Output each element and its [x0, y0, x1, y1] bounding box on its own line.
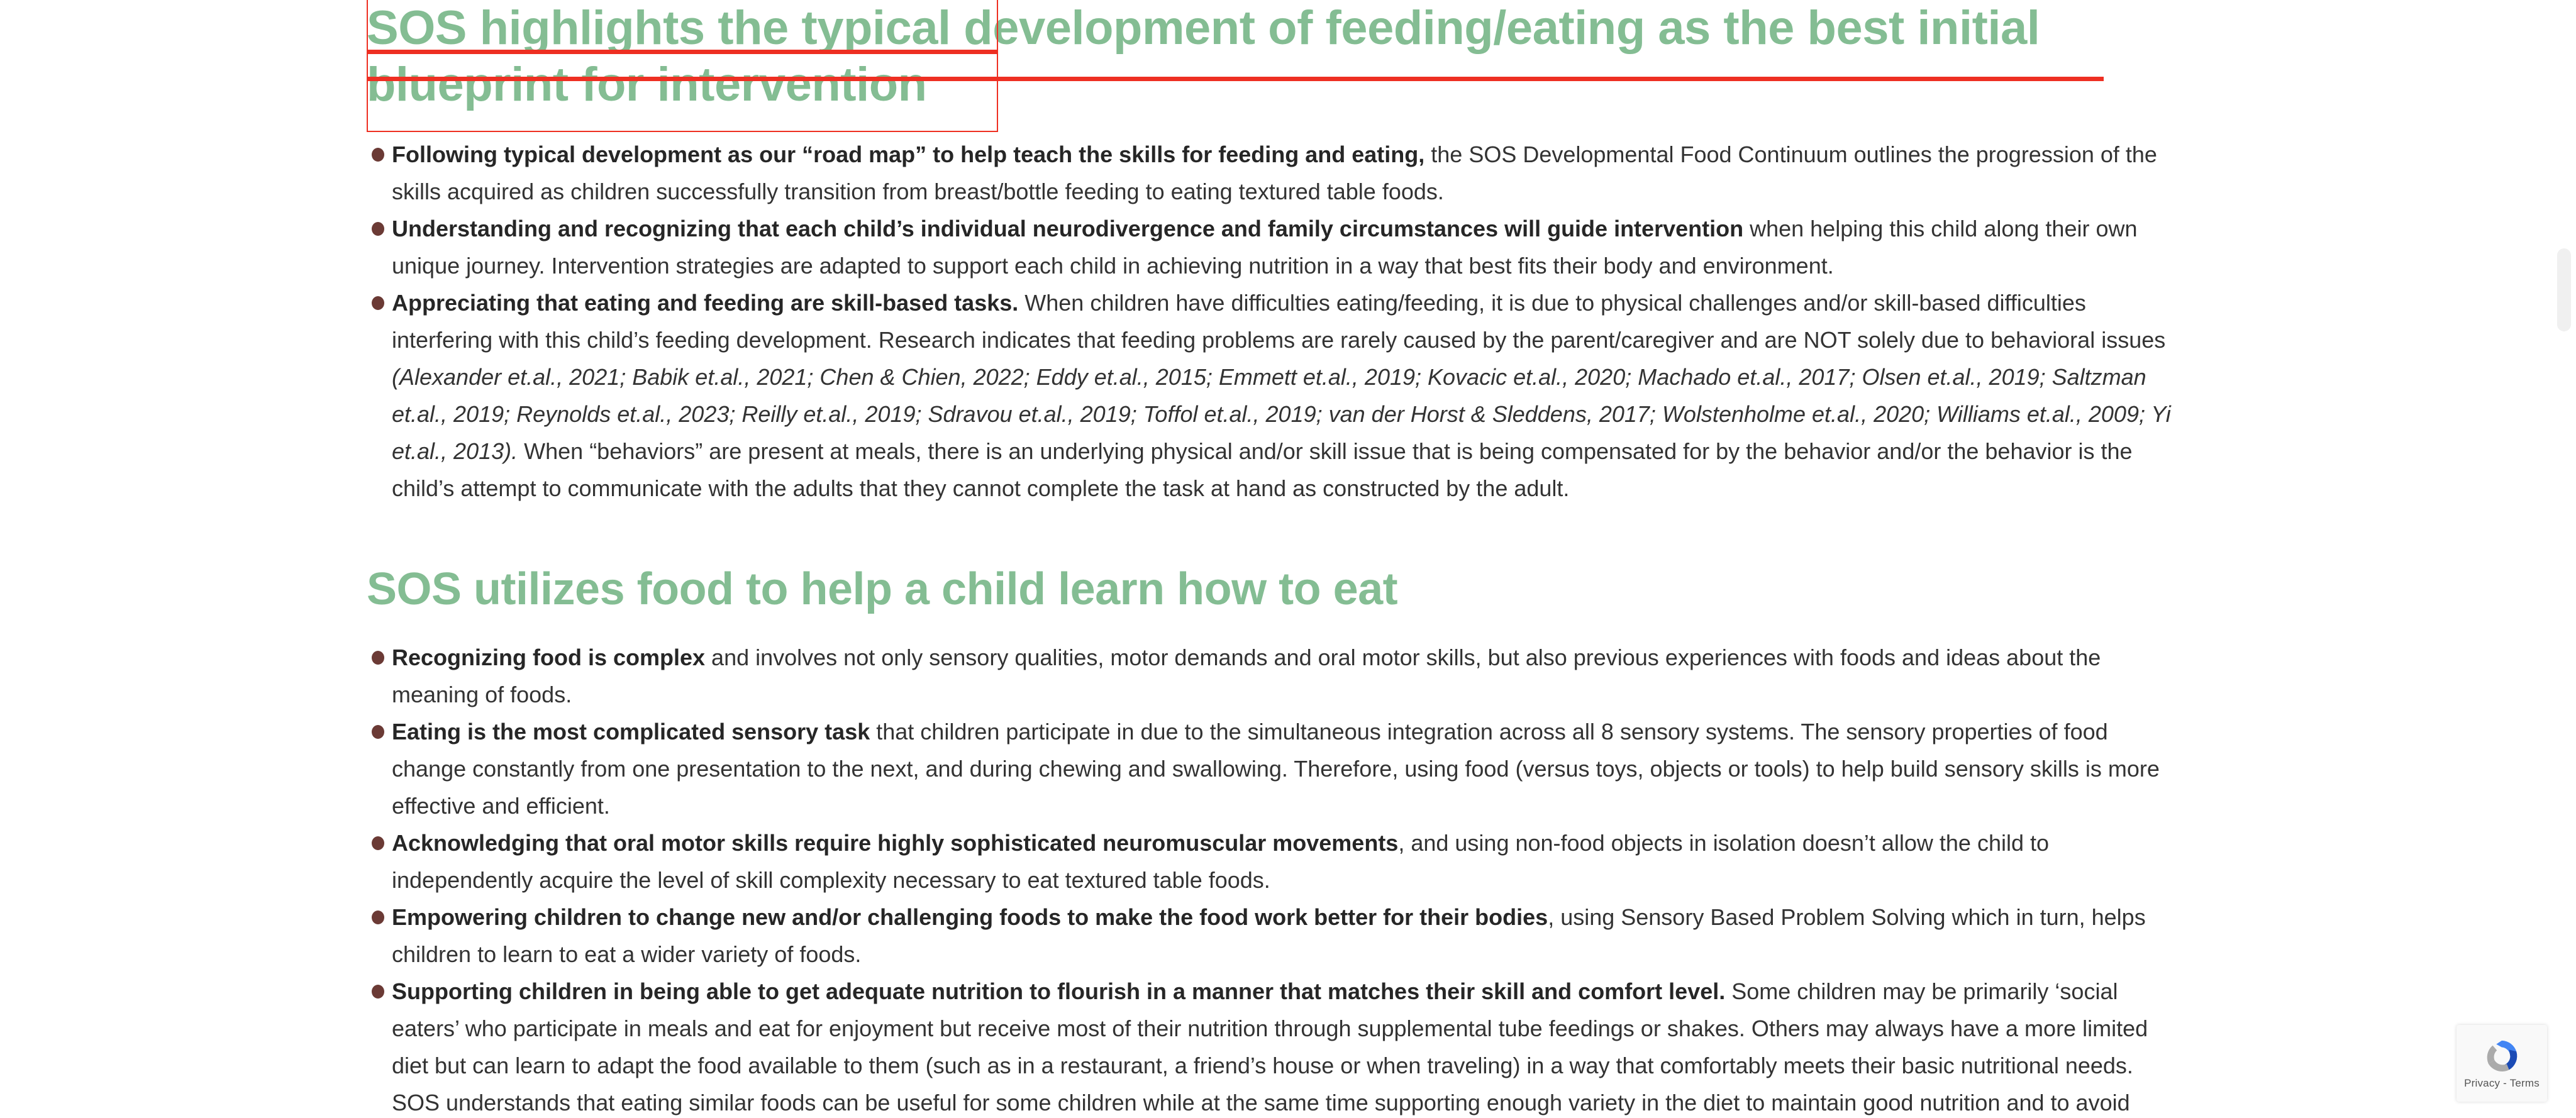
list-item: Recognizing food is complex and involves…	[367, 639, 2178, 713]
list-item-lead: Eating is the most complicated sensory t…	[392, 719, 870, 744]
bullet-dot-icon	[372, 910, 384, 924]
section-heading-2: SOS utilizes food to help a child learn …	[367, 562, 2121, 616]
list-item: Acknowledging that oral motor skills req…	[367, 824, 2178, 899]
bullet-list-section-1: Following typical development as our “ro…	[367, 136, 2178, 507]
list-item: Following typical development as our “ro…	[367, 136, 2178, 210]
article-content: SOS highlights the typical development o…	[367, 0, 2178, 1118]
bullet-dot-icon	[372, 725, 384, 739]
list-item-lead: Empowering children to change new and/or…	[392, 904, 1548, 930]
list-item-lead: Recognizing food is complex	[392, 645, 705, 670]
list-item-lead: Appreciating that eating and feeding are…	[392, 290, 1018, 316]
recaptcha-icon	[2482, 1037, 2521, 1076]
bullet-dot-icon	[372, 296, 384, 310]
list-item: Supporting children in being able to get…	[367, 973, 2178, 1118]
list-item: Empowering children to change new and/or…	[367, 899, 2178, 973]
bullet-dot-icon	[372, 222, 384, 236]
list-item: Appreciating that eating and feeding are…	[367, 284, 2178, 507]
bullet-dot-icon	[372, 651, 384, 665]
list-item: Eating is the most complicated sensory t…	[367, 713, 2178, 824]
spacer	[367, 616, 2178, 639]
list-item-tail: When “behaviors” are present at meals, t…	[392, 438, 2133, 501]
spacer	[367, 507, 2178, 562]
bullet-dot-icon	[372, 148, 384, 162]
scrollbar-thumb[interactable]	[2557, 248, 2571, 331]
recaptcha-label: Privacy - Terms	[2464, 1077, 2540, 1090]
bullet-dot-icon	[372, 836, 384, 850]
list-item: Understanding and recognizing that each …	[367, 210, 2178, 284]
scrollbar-track[interactable]	[2553, 0, 2576, 1118]
recaptcha-badge[interactable]: Privacy - Terms	[2457, 1025, 2547, 1102]
page-container: SOS highlights the typical development o…	[0, 0, 2576, 1118]
spacer	[367, 113, 2178, 136]
list-item-lead: Supporting children in being able to get…	[392, 978, 1725, 1004]
list-item-lead: Acknowledging that oral motor skills req…	[392, 830, 1398, 856]
list-item-lead: Following typical development as our “ro…	[392, 141, 1424, 167]
list-item-lead: Understanding and recognizing that each …	[392, 216, 1743, 241]
bullet-dot-icon	[372, 985, 384, 999]
bullet-list-section-2: Recognizing food is complex and involves…	[367, 639, 2178, 1118]
page-title: SOS highlights the typical development o…	[367, 0, 2121, 113]
